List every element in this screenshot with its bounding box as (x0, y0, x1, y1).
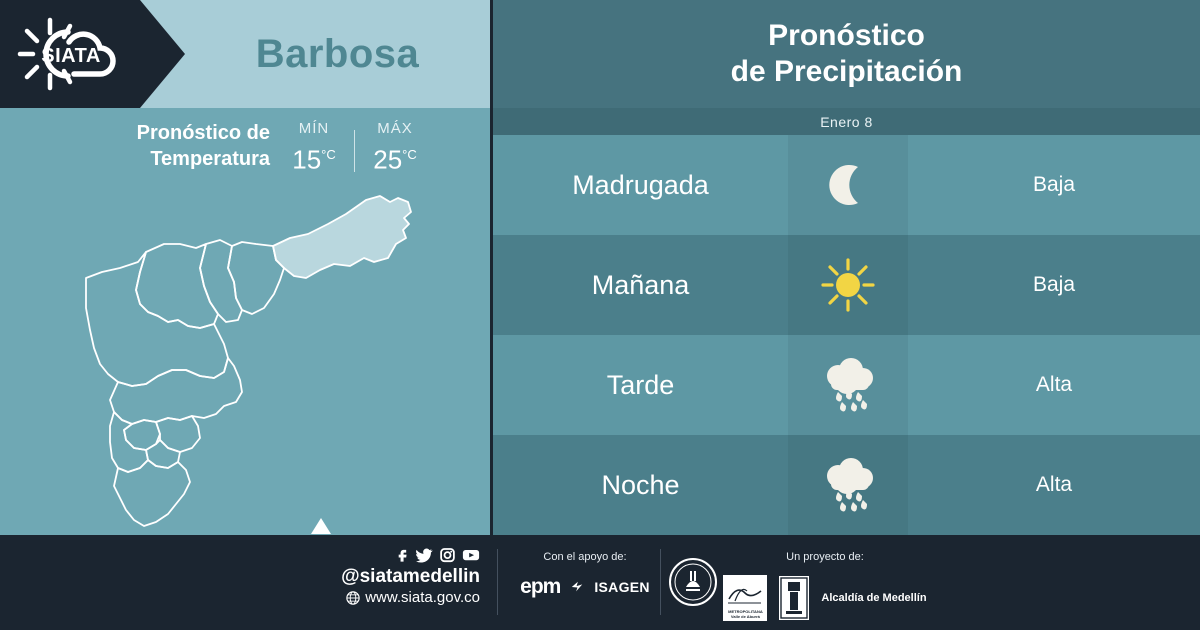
epm-logo: epm (520, 575, 560, 599)
instagram-icon[interactable] (440, 547, 455, 563)
aburra-valley-map: N (28, 186, 468, 531)
amva-caption: METROPOLITANA Valle de Aburrá (723, 609, 767, 619)
footer-divider-1 (497, 549, 498, 615)
min-label: MÍN (278, 118, 350, 140)
level-cell: Alta (908, 435, 1200, 535)
project-logo-row: METROPOLITANA Valle de Aburrá Alcaldía d… (700, 575, 950, 621)
weather-forecast-poster: SIATA Barbosa Pronóstico de Temperatura … (0, 0, 1200, 630)
temperature-title: Pronóstico de Temperatura (60, 120, 270, 172)
precipitation-header: Pronóstico de Precipitación (493, 0, 1200, 108)
level-label: Alta (1036, 473, 1072, 497)
website-url: www.siata.gov.co (365, 588, 480, 608)
youtube-icon[interactable] (462, 547, 480, 563)
weather-icon-cell (788, 235, 908, 335)
rain-cloud-icon (817, 356, 879, 414)
moon-icon (820, 157, 876, 213)
area-metropolitana-mark-icon (723, 575, 767, 609)
sun-icon (819, 256, 877, 314)
map-region-bello (136, 244, 218, 328)
max-unit: °C (402, 147, 417, 162)
max-label: MÁX (359, 118, 431, 140)
map-region-envigado (156, 416, 200, 452)
twitter-icon[interactable] (416, 547, 433, 563)
facebook-icon[interactable] (394, 547, 409, 563)
period-cell: Madrugada (493, 135, 788, 235)
project-caption: Un proyecto de: (700, 549, 950, 565)
temperature-title-line2: Temperatura (60, 146, 270, 172)
min-value: 15 (292, 145, 321, 175)
footer: @siatamedellin www.siata.gov.co Con el a… (0, 535, 1200, 630)
footer-divider-2 (660, 549, 661, 615)
social-icon-row (300, 547, 480, 563)
map-region-medellin (110, 358, 242, 424)
level-cell: Baja (908, 235, 1200, 335)
precipitation-title-line2: de Precipitación (731, 54, 963, 90)
max-temperature: MÁX 25°C (359, 118, 431, 175)
level-label: Baja (1033, 273, 1075, 297)
alcaldia-label: Alcaldía de Medellín (821, 592, 926, 604)
alcaldia-mark-icon (779, 576, 809, 620)
table-row: Madrugada Baja (493, 135, 1200, 235)
level-cell: Alta (908, 335, 1200, 435)
map-region-barbosa (273, 196, 411, 278)
period-label: Madrugada (572, 170, 709, 201)
table-row: Noche (493, 435, 1200, 535)
weather-icon-cell (788, 435, 908, 535)
forecast-rows: Madrugada Baja Mañana (493, 135, 1200, 535)
globe-icon (346, 591, 360, 605)
weather-icon-cell (788, 335, 908, 435)
min-temperature: MÍN 15°C (278, 118, 350, 175)
map-region-copacabana (200, 240, 242, 322)
temperature-title-line1: Pronóstico de (60, 120, 270, 146)
period-label: Noche (601, 470, 679, 501)
alcaldia-logo (779, 576, 809, 620)
max-value: 25 (373, 145, 402, 175)
map-region-caldas (114, 460, 190, 526)
precipitation-title-line1: Pronóstico (768, 18, 925, 54)
level-label: Alta (1036, 373, 1072, 397)
period-label: Mañana (592, 270, 690, 301)
level-label: Baja (1033, 173, 1075, 197)
siata-logo-banner: SIATA (0, 0, 185, 108)
project-block: Un proyecto de: METROPOLITANA Valle de A… (700, 549, 950, 621)
social-block: @siatamedellin www.siata.gov.co (300, 547, 480, 608)
period-cell: Tarde (493, 335, 788, 435)
precipitation-panel: Pronóstico de Precipitación Enero 8 Madr… (493, 0, 1200, 535)
social-handle[interactable]: @siatamedellin (300, 565, 480, 588)
sun-cloud-icon: SIATA (14, 12, 132, 96)
north-arrow-icon (308, 516, 334, 536)
svg-text:SIATA: SIATA (41, 45, 101, 67)
support-block: Con el apoyo de: epm ISAGEN (505, 549, 665, 599)
amva-line2: Valle de Aburrá (723, 614, 767, 619)
table-row: Mañana (493, 235, 1200, 335)
support-logo-row: epm ISAGEN (505, 575, 665, 599)
temperature-block: Pronóstico de Temperatura MÍN 15°C MÁX 2… (0, 118, 490, 190)
level-cell: Baja (908, 135, 1200, 235)
support-caption: Con el apoyo de: (505, 549, 665, 565)
map-region-noroccidente (86, 252, 228, 386)
period-cell: Noche (493, 435, 788, 535)
map-svg (28, 186, 468, 531)
area-metropolitana-logo: METROPOLITANA Valle de Aburrá (723, 575, 767, 621)
min-value-wrap: 15°C (278, 140, 350, 175)
period-cell: Mañana (493, 235, 788, 335)
max-value-wrap: 25°C (359, 140, 431, 175)
isagen-logo: ISAGEN (594, 579, 649, 595)
forecast-date-band: Enero 8 (493, 108, 1200, 135)
rain-cloud-icon (817, 456, 879, 514)
min-max-group: MÍN 15°C MÁX 25°C (278, 118, 431, 175)
isagen-mark-icon (570, 580, 584, 594)
table-row: Tarde (493, 335, 1200, 435)
city-header-band: SIATA Barbosa (0, 0, 490, 108)
minmax-divider (354, 130, 355, 172)
weather-icon-cell (788, 135, 908, 235)
min-unit: °C (321, 147, 336, 162)
forecast-date: Enero 8 (820, 114, 873, 130)
website-row[interactable]: www.siata.gov.co (300, 588, 480, 608)
page-title: Barbosa (185, 0, 490, 108)
period-label: Tarde (607, 370, 675, 401)
left-panel: SIATA Barbosa Pronóstico de Temperatura … (0, 0, 490, 535)
